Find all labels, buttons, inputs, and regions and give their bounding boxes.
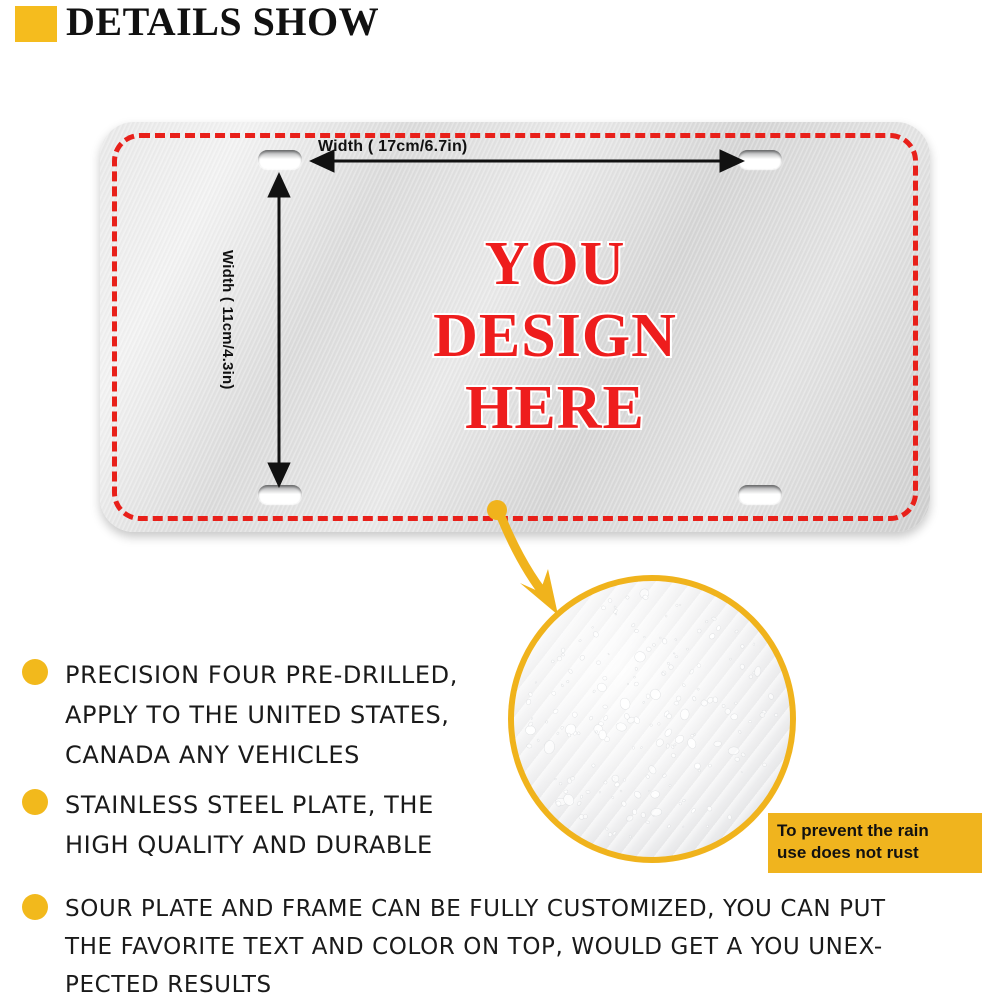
feature-text-3: SOUR PLATE AND FRAME CAN BE FULLY CUSTOM…: [65, 890, 886, 1004]
feature-3-line-3: PECTED RESULTS: [65, 966, 886, 1004]
header-bar: DETAILS SHOW: [0, 0, 1000, 56]
feature-text-2: STAINLESS STEEL PLATE, THE HIGH QUALITY …: [65, 785, 434, 865]
design-line-3: HERE: [390, 372, 720, 444]
surface-closeup-circle: [508, 575, 796, 863]
mount-slot-top-right: [738, 150, 782, 169]
mount-slot-bottom-left: [258, 485, 302, 504]
feature-3-line-2: THE FAVORITE TEXT AND COLOR ON TOP, WOUL…: [65, 928, 886, 966]
mount-slot-top-left: [258, 150, 302, 169]
bullet-dot-icon: [22, 789, 48, 815]
callout-anchor-dot: [487, 500, 507, 520]
water-droplets: [514, 581, 790, 857]
mount-slot-bottom-right: [738, 485, 782, 504]
feature-item-3: SOUR PLATE AND FRAME CAN BE FULLY CUSTOM…: [22, 890, 886, 1004]
feature-text-1: PRECISION FOUR PRE-DRILLED, APPLY TO THE…: [65, 655, 458, 775]
width-dimension-label: Width ( 17cm/6.7in): [318, 138, 467, 156]
feature-1-line-3: CANADA ANY VEHICLES: [65, 735, 458, 775]
design-line-1: YOU: [390, 228, 720, 300]
height-dimension-label: Width ( 11cm/4.3in): [219, 250, 236, 390]
design-line-2: DESIGN: [390, 300, 720, 372]
feature-2-line-2: HIGH QUALITY AND DURABLE: [65, 825, 434, 865]
page-title: DETAILS SHOW: [66, 0, 379, 45]
feature-2-line-1: STAINLESS STEEL PLATE, THE: [65, 785, 434, 825]
feature-item-1: PRECISION FOUR PRE-DRILLED, APPLY TO THE…: [22, 655, 458, 775]
feature-1-line-2: APPLY TO THE UNITED STATES,: [65, 695, 458, 735]
header-accent-square: [15, 6, 57, 42]
rust-badge-line-1: To prevent the rain: [777, 820, 973, 842]
bullet-dot-icon: [22, 659, 48, 685]
rust-badge-line-2: use does not rust: [777, 842, 973, 864]
feature-3-line-1: SOUR PLATE AND FRAME CAN BE FULLY CUSTOM…: [65, 890, 886, 928]
bullet-dot-icon: [22, 894, 48, 920]
rust-prevention-badge: To prevent the rain use does not rust: [768, 813, 982, 873]
feature-1-line-1: PRECISION FOUR PRE-DRILLED,: [65, 655, 458, 695]
feature-item-2: STAINLESS STEEL PLATE, THE HIGH QUALITY …: [22, 785, 434, 865]
design-placeholder-text: YOU DESIGN HERE: [390, 228, 720, 444]
